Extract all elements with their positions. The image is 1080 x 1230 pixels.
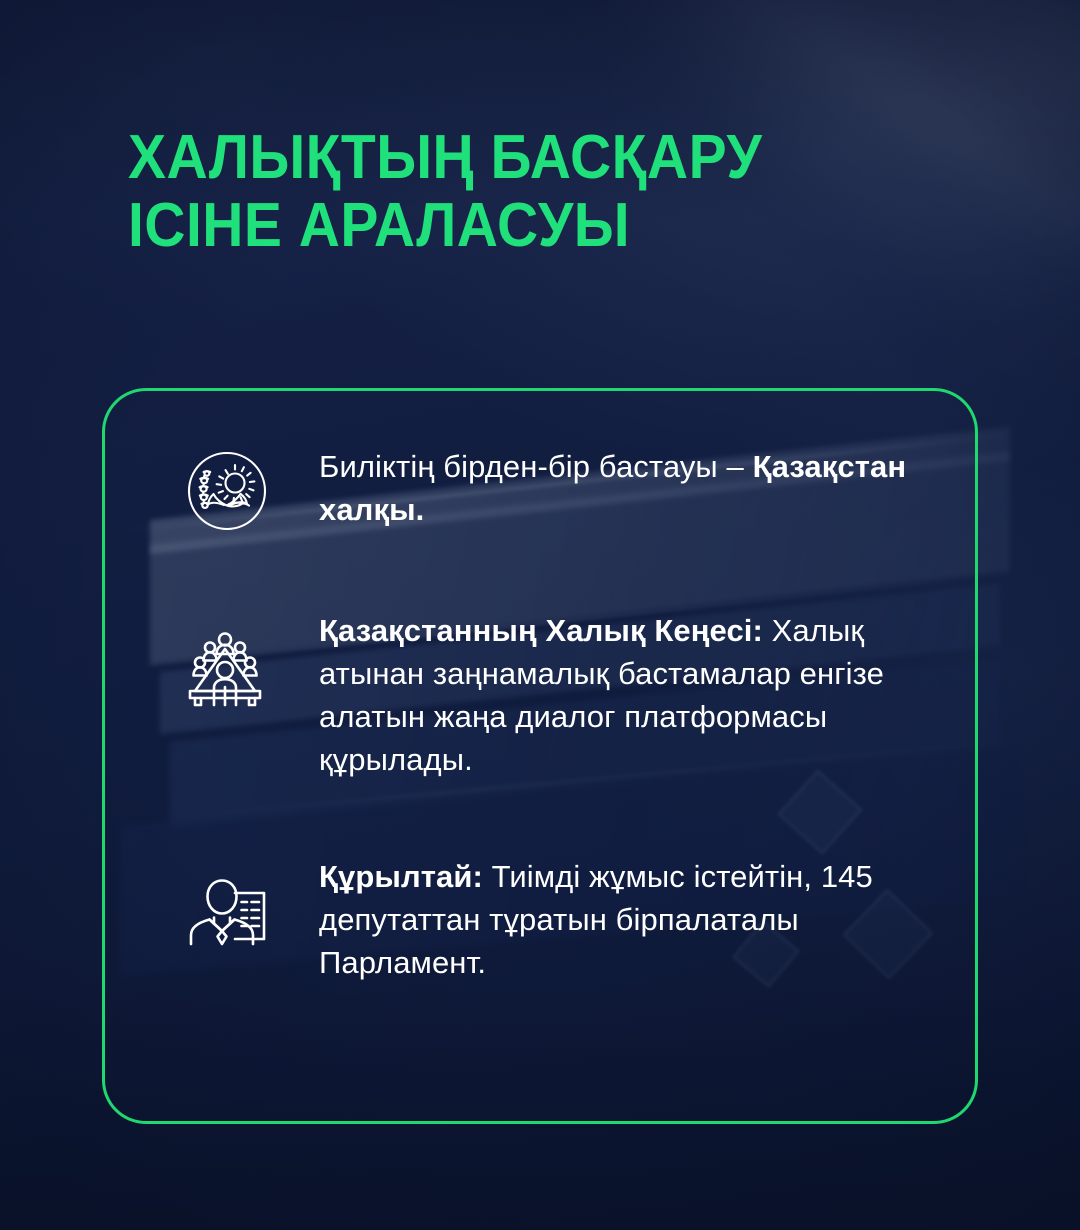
list-item-bold: Қазақстанның Халық Кеңесі:: [319, 613, 763, 648]
list-item-text: Құрылтай: Тиімді жұмыс істейтін, 145 деп…: [279, 853, 965, 984]
list-item-lead: Биліктің бірден-бір бастауы –: [319, 449, 753, 484]
list-item: Биліктің бірден-бір бастауы – Қазақстан …: [175, 439, 965, 543]
kazakhstan-emblem-icon: [175, 439, 279, 543]
list-item: Құрылтай: Тиімді жұмыс істейтін, 145 деп…: [175, 853, 965, 984]
page-title-line-1: ХАЛЫҚТЫҢ БАСҚАРУ: [128, 124, 882, 192]
page-title: ХАЛЫҚТЫҢ БАСҚАРУ ІСІНЕ АРАЛАСУЫ: [128, 124, 948, 260]
list-item-text: Биліктің бірден-бір бастауы – Қазақстан …: [279, 439, 965, 531]
list-item-text: Қазақстанның Халық Кеңесі: Халық атынан …: [279, 603, 965, 781]
list-item: Қазақстанның Халық Кеңесі: Халық атынан …: [175, 603, 965, 781]
content-card: Биліктің бірден-бір бастауы – Қазақстан …: [102, 388, 978, 1124]
council-assembly-icon: [175, 617, 279, 721]
deputy-person-document-icon: [175, 859, 279, 963]
infographic-stage: ХАЛЫҚТЫҢ БАСҚАРУ ІСІНЕ АРАЛАСУЫ: [0, 0, 1080, 1230]
list-item-bold: Құрылтай:: [319, 859, 483, 894]
page-title-line-2: ІСІНЕ АРАЛАСУЫ: [128, 192, 882, 260]
